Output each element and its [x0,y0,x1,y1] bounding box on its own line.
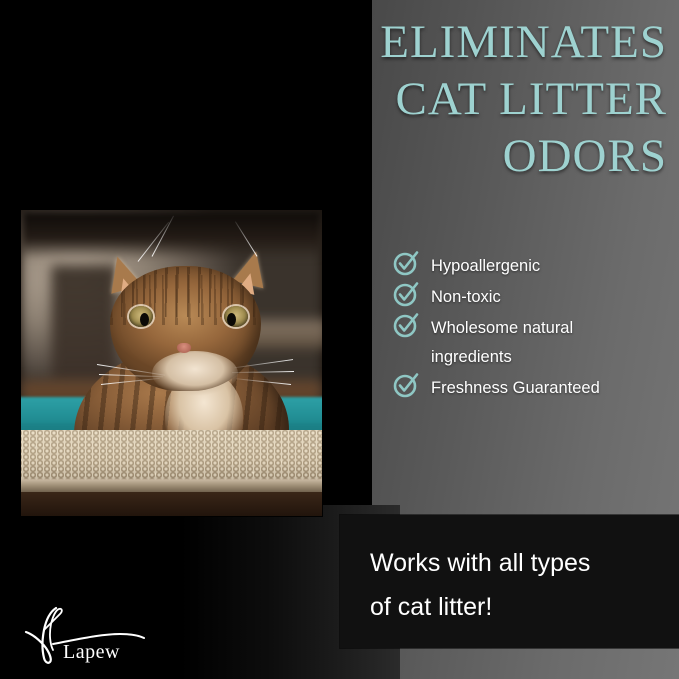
feature-label: Freshness Guaranteed [431,374,600,403]
feature-label: Wholesome natural ingredients [431,314,573,372]
litter-tray-shadow [21,492,322,516]
feature-item: Non-toxic [392,283,672,312]
headline-line-1: ELIMINATES [237,14,667,71]
cat-litter-grain [21,430,322,485]
headline-line-3: ODORS [237,128,667,185]
callout-text: Works with all types of cat litter! [370,541,660,629]
kitten-muzzle [152,351,239,396]
feature-label-line: Wholesome natural [431,314,573,343]
feature-label-line: Hypoallergenic [431,257,540,275]
feature-label: Hypoallergenic [431,252,540,281]
check-circle-icon [392,311,420,339]
check-circle-icon [392,249,420,277]
brand-name: Lapew [63,641,120,664]
feature-label-line: Freshness Guaranteed [431,379,600,397]
feature-label-line-2: ingredients [431,343,573,372]
photo-scene [21,210,322,516]
callout-line-1: Works with all types [370,541,660,585]
feature-item: Freshness Guaranteed [392,374,672,403]
headline: ELIMINATES CAT LITTER ODORS [237,14,667,185]
product-photo [21,210,322,516]
check-circle-icon [392,371,420,399]
feature-item: Hypoallergenic [392,252,672,281]
feature-item: Wholesome natural ingredients [392,314,672,372]
kitten-whisker [232,371,294,373]
feature-list: Hypoallergenic Non-toxic W [392,252,672,405]
feature-label: Non-toxic [431,283,501,312]
product-poster: ELIMINATES CAT LITTER ODORS [0,0,679,679]
brand-logo: Lapew [20,600,170,670]
callout-line-2: of cat litter! [370,585,660,629]
headline-line-2: CAT LITTER [237,71,667,128]
feature-label-line: Non-toxic [431,288,501,306]
check-circle-icon [392,280,420,308]
callout-box: Works with all types of cat litter! [340,515,679,648]
